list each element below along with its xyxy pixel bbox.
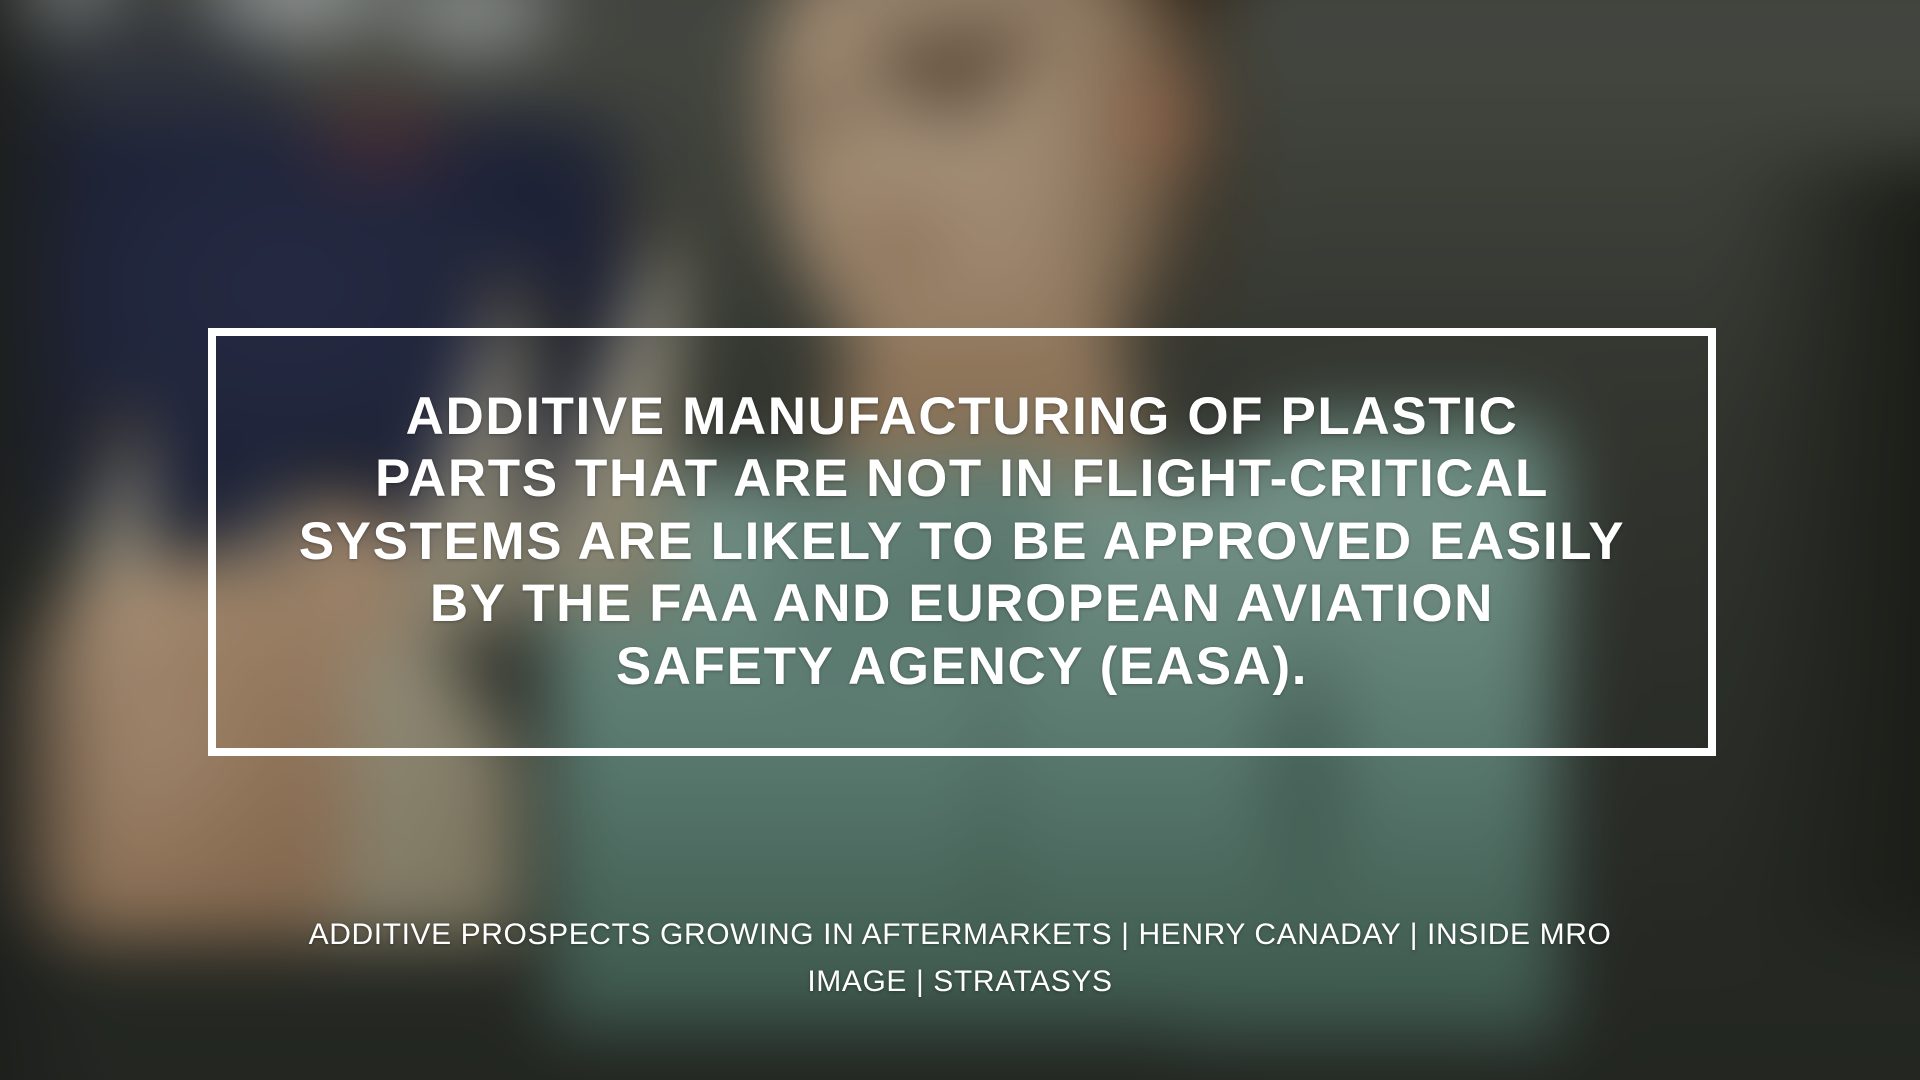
quote-card: ADDITIVE MANUFACTURING OF PLASTIC PARTS …	[0, 0, 1920, 1080]
quote-frame-border: ADDITIVE MANUFACTURING OF PLASTIC PARTS …	[208, 328, 1716, 756]
attribution-caption: ADDITIVE PROSPECTS GROWING IN AFTERMARKE…	[0, 912, 1920, 1005]
pull-quote-text: ADDITIVE MANUFACTURING OF PLASTIC PARTS …	[273, 386, 1652, 699]
